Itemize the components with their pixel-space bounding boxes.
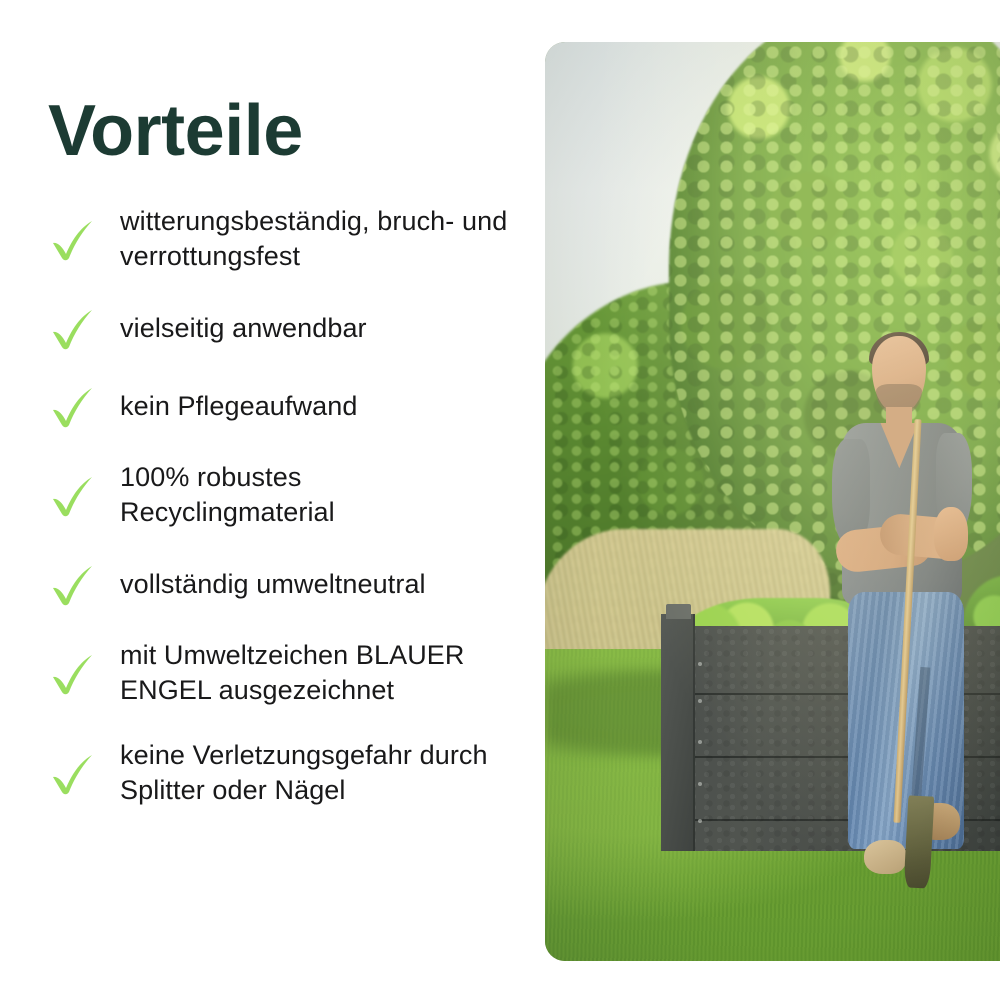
list-item: keine Verletzungsgefahr durch Splitter o… bbox=[0, 730, 530, 816]
planter-screw bbox=[698, 782, 702, 786]
benefits-column: Vorteile witterungsbeständig, bruch- und… bbox=[0, 0, 530, 1000]
check-icon bbox=[46, 747, 98, 799]
list-item: 100% robustes Recyclingmaterial bbox=[0, 452, 530, 538]
check-icon bbox=[46, 469, 98, 521]
benefit-label: keine Verletzungsgefahr durch Splitter o… bbox=[120, 738, 520, 807]
list-item: mit Umweltzeichen BLAUER ENGEL ausgezeic… bbox=[0, 630, 530, 716]
check-icon bbox=[46, 558, 98, 610]
list-item: vollständig umweltneutral bbox=[0, 552, 530, 616]
check-icon bbox=[46, 213, 98, 265]
benefit-label: vollständig umweltneutral bbox=[120, 567, 426, 602]
check-icon bbox=[46, 380, 98, 432]
spade-blade bbox=[904, 795, 934, 888]
planter-screw bbox=[698, 819, 702, 823]
benefit-label: kein Pflegeaufwand bbox=[120, 389, 357, 424]
page-title: Vorteile bbox=[48, 95, 303, 167]
benefit-list: witterungsbeständig, bruch- und verrottu… bbox=[0, 196, 530, 830]
benefit-label: 100% robustes Recyclingmaterial bbox=[120, 460, 370, 529]
person-shoe-left bbox=[864, 840, 906, 874]
planter-corner-post bbox=[661, 614, 694, 851]
planter-screw bbox=[698, 699, 702, 703]
photo-scene bbox=[545, 42, 1000, 961]
benefit-label: witterungsbeständig, bruch- und verrottu… bbox=[120, 204, 520, 273]
garden-photo bbox=[545, 42, 1000, 961]
check-icon bbox=[46, 647, 98, 699]
list-item: kein Pflegeaufwand bbox=[0, 374, 530, 438]
promo-card: Vorteile witterungsbeständig, bruch- und… bbox=[0, 0, 1000, 1000]
person-hands bbox=[934, 507, 968, 561]
check-icon bbox=[46, 302, 98, 354]
list-item: witterungsbeständig, bruch- und verrottu… bbox=[0, 196, 530, 282]
benefit-label: vielseitig anwendbar bbox=[120, 311, 367, 346]
planter-post-cap bbox=[666, 604, 691, 619]
list-item: vielseitig anwendbar bbox=[0, 296, 530, 360]
benefit-label: mit Umweltzeichen BLAUER ENGEL ausgezeic… bbox=[120, 638, 520, 707]
